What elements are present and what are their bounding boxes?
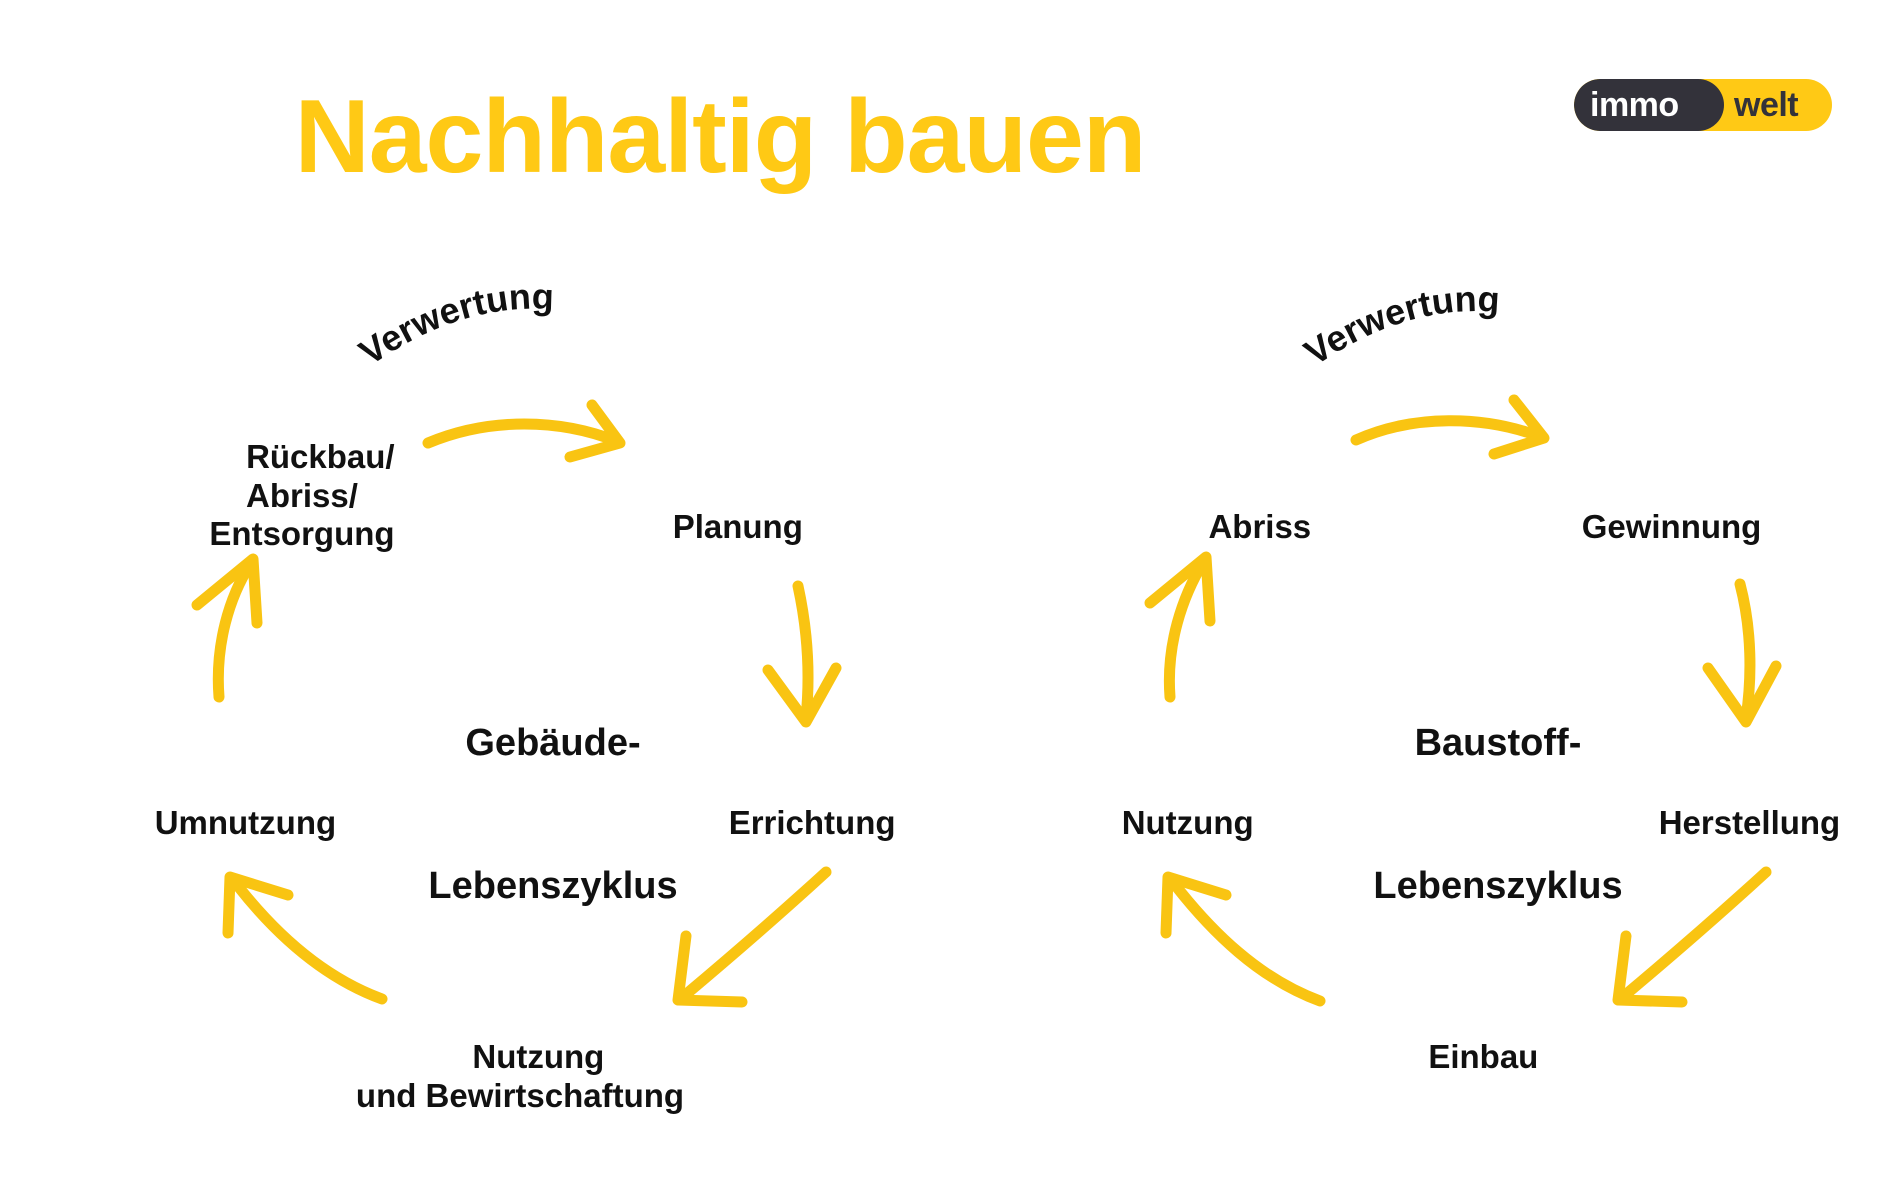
node-umnutzung: Umnutzung xyxy=(118,766,336,881)
center-label-line2: Lebenszyklus xyxy=(1373,863,1622,911)
node-nutzung-right-label: Nutzung xyxy=(1122,804,1254,841)
node-abriss: Abriss xyxy=(1173,470,1311,585)
svg-text:Verwertung: Verwertung xyxy=(1297,282,1501,373)
node-planung: Planung xyxy=(636,470,803,585)
node-gewinnung: Gewinnung xyxy=(1545,470,1761,585)
arrow-rueckbau-to-planung xyxy=(420,395,650,490)
node-herstellung-label: Herstellung xyxy=(1659,804,1841,841)
node-errichtung-label: Errichtung xyxy=(729,804,896,841)
immowelt-logo[interactable]: immo welt xyxy=(1574,79,1832,131)
arrow-einbau-to-nutzung xyxy=(1152,865,1337,1015)
arrow-gewinnung-to-herstellung xyxy=(1690,578,1810,748)
infographic-canvas: Nachhaltig bauen immo welt Verwertung Rü… xyxy=(0,0,1900,1188)
center-label-line2: Lebenszyklus xyxy=(428,863,677,911)
center-label-baustoff-lebenszyklus: Baustoff- Lebenszyklus xyxy=(1373,625,1622,1005)
arc-label-verwertung-right: Verwertung xyxy=(1290,282,1650,402)
center-label-line1: Baustoff- xyxy=(1373,720,1622,768)
node-herstellung: Herstellung xyxy=(1622,766,1840,881)
node-rueckbau-abriss-entsorgung: Rückbau/ Abriss/ Entsorgung xyxy=(209,400,394,591)
node-einbau: Einbau xyxy=(1392,1000,1539,1115)
node-gewinnung-label: Gewinnung xyxy=(1582,508,1762,545)
arc-label-verwertung-left: Verwertung xyxy=(355,275,715,395)
arc-label-verwertung-left-text: Verwertung xyxy=(355,275,554,372)
node-nutzung-bewirtschaftung: Nutzung und Bewirtschaftung xyxy=(356,1000,684,1153)
arrow-errichtung-to-nutzung xyxy=(660,862,840,1017)
center-label-line1: Gebäude- xyxy=(428,720,677,768)
node-errichtung: Errichtung xyxy=(692,766,896,881)
node-einbau-label: Einbau xyxy=(1428,1038,1538,1075)
arc-label-verwertung-right-text: Verwertung xyxy=(1297,282,1501,373)
node-umnutzung-label: Umnutzung xyxy=(155,804,336,841)
node-nutzung-bewirtschaftung-label: Nutzung und Bewirtschaftung xyxy=(356,1038,684,1113)
arrow-nutzung-to-umnutzung xyxy=(212,865,397,1015)
node-rueckbau-label: Rückbau/ Abriss/ Entsorgung xyxy=(209,438,394,552)
page-title: Nachhaltig bauen xyxy=(0,78,1440,197)
logo-immo-text: immo xyxy=(1590,88,1679,122)
node-nutzung-right: Nutzung xyxy=(1085,766,1254,881)
arrow-herstellung-to-einbau xyxy=(1600,862,1780,1017)
svg-text:Verwertung: Verwertung xyxy=(355,275,554,372)
arrow-abriss-to-gewinnung xyxy=(1348,392,1573,487)
center-label-gebaeude-lebenszyklus: Gebäude- Lebenszyklus xyxy=(428,625,677,1005)
node-abriss-label: Abriss xyxy=(1208,508,1311,545)
node-planung-label: Planung xyxy=(673,508,803,545)
arrow-planung-to-errichtung xyxy=(752,580,872,750)
logo-welt-text: welt xyxy=(1734,88,1798,122)
